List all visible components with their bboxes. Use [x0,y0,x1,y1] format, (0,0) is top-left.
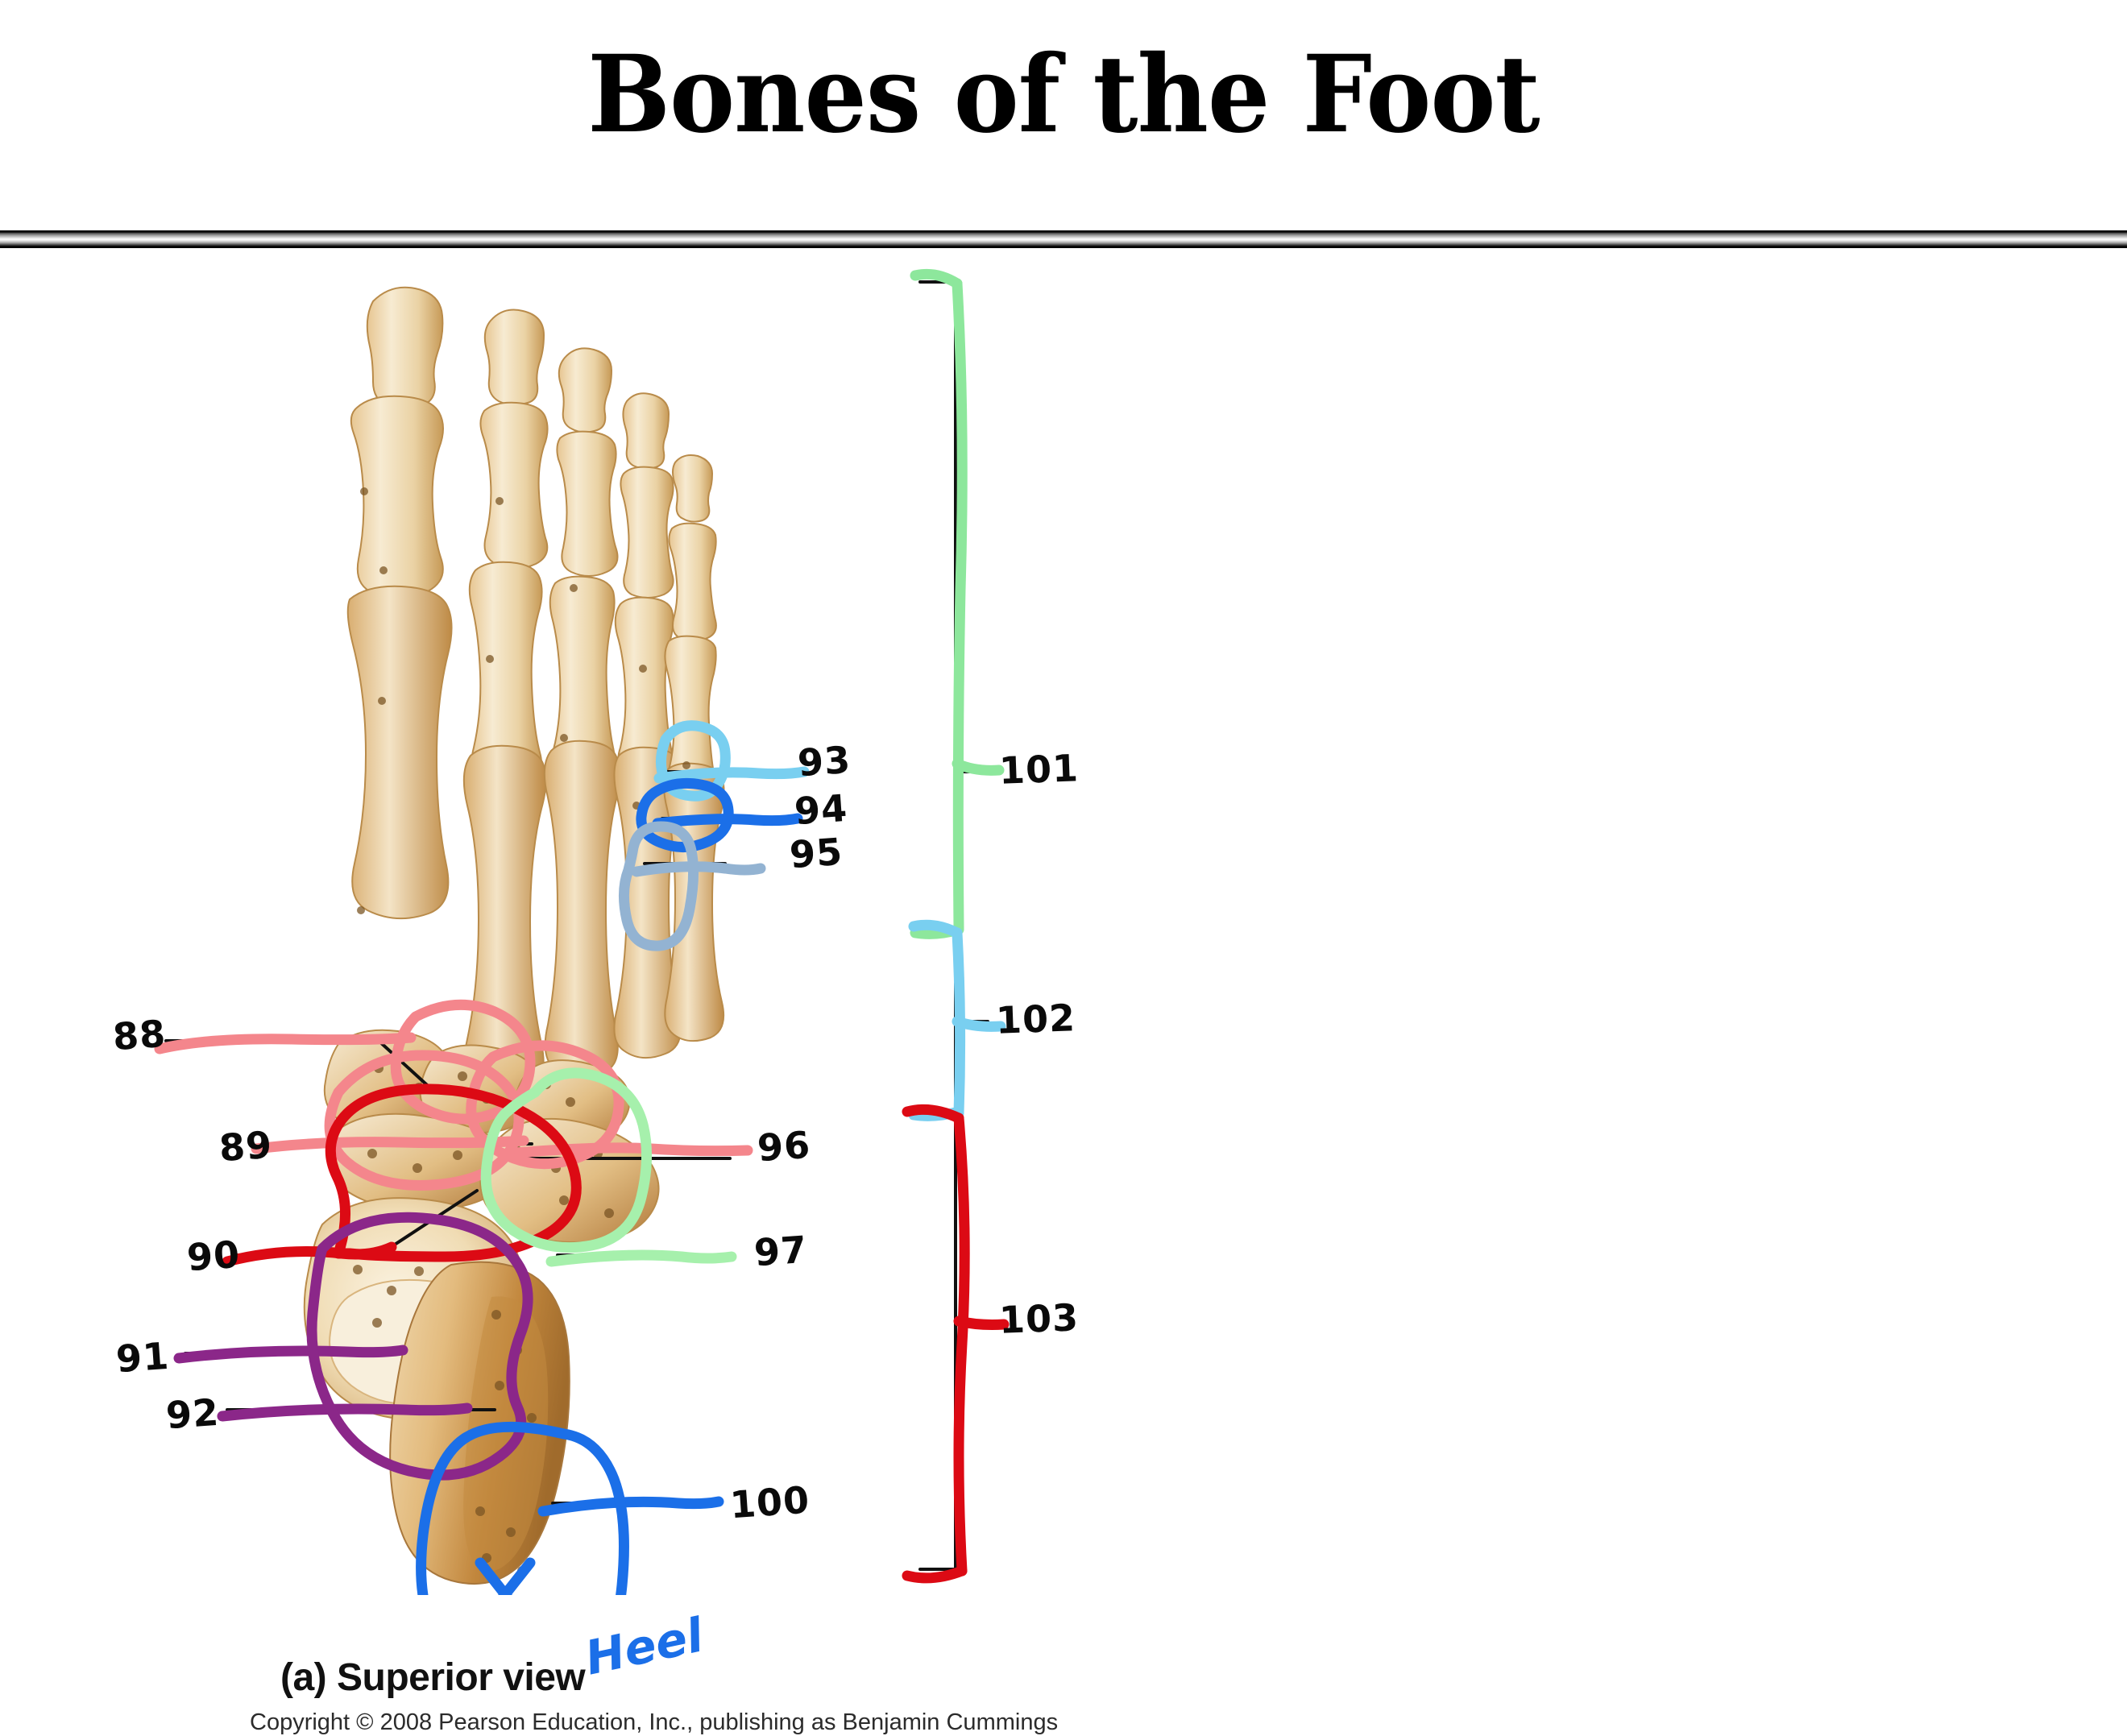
label-102: 102 [995,996,1076,1042]
figure-caption: (a) Superior view [280,1655,585,1700]
leader-100 [543,1502,719,1511]
leader-96 [506,1148,748,1154]
label-100: 100 [728,1478,811,1527]
leader-93 [659,772,804,778]
label-90: 90 [185,1233,242,1279]
label-95: 95 [788,830,844,876]
label-94: 94 [793,786,849,833]
annotation-green-group [486,1073,732,1262]
printed-leader-lines [166,282,988,1571]
label-88: 88 [111,1012,168,1059]
leader-92 [222,1408,467,1416]
copyright-notice: Copyright © 2008 Pearson Education, Inc.… [250,1709,1058,1736]
title-bar: Bones of the Foot [0,42,2127,148]
divider-bevel [0,232,2127,247]
label-101: 101 [998,746,1080,792]
annotation-grayblue-group [624,827,761,946]
leader-91 [179,1350,403,1358]
label-93: 93 [796,738,852,785]
label-91: 91 [114,1334,171,1381]
heel-annotation: Heel [581,1607,708,1685]
label-89: 89 [218,1123,274,1170]
bracket-101 [915,274,999,934]
leader-88 [160,1038,411,1049]
page-title: Bones of the Foot [587,42,1539,148]
label-92: 92 [164,1390,221,1437]
horizontal-divider-rule [0,230,2127,248]
label-96: 96 [756,1123,812,1170]
label-97: 97 [753,1228,809,1274]
label-103: 103 [998,1295,1080,1341]
foot-bones-figure: 88 89 90 91 92 93 94 95 96 97 100 101 10… [0,250,2127,1595]
leader-97 [551,1255,732,1262]
handwritten-annotation-overlay [0,250,2127,1595]
